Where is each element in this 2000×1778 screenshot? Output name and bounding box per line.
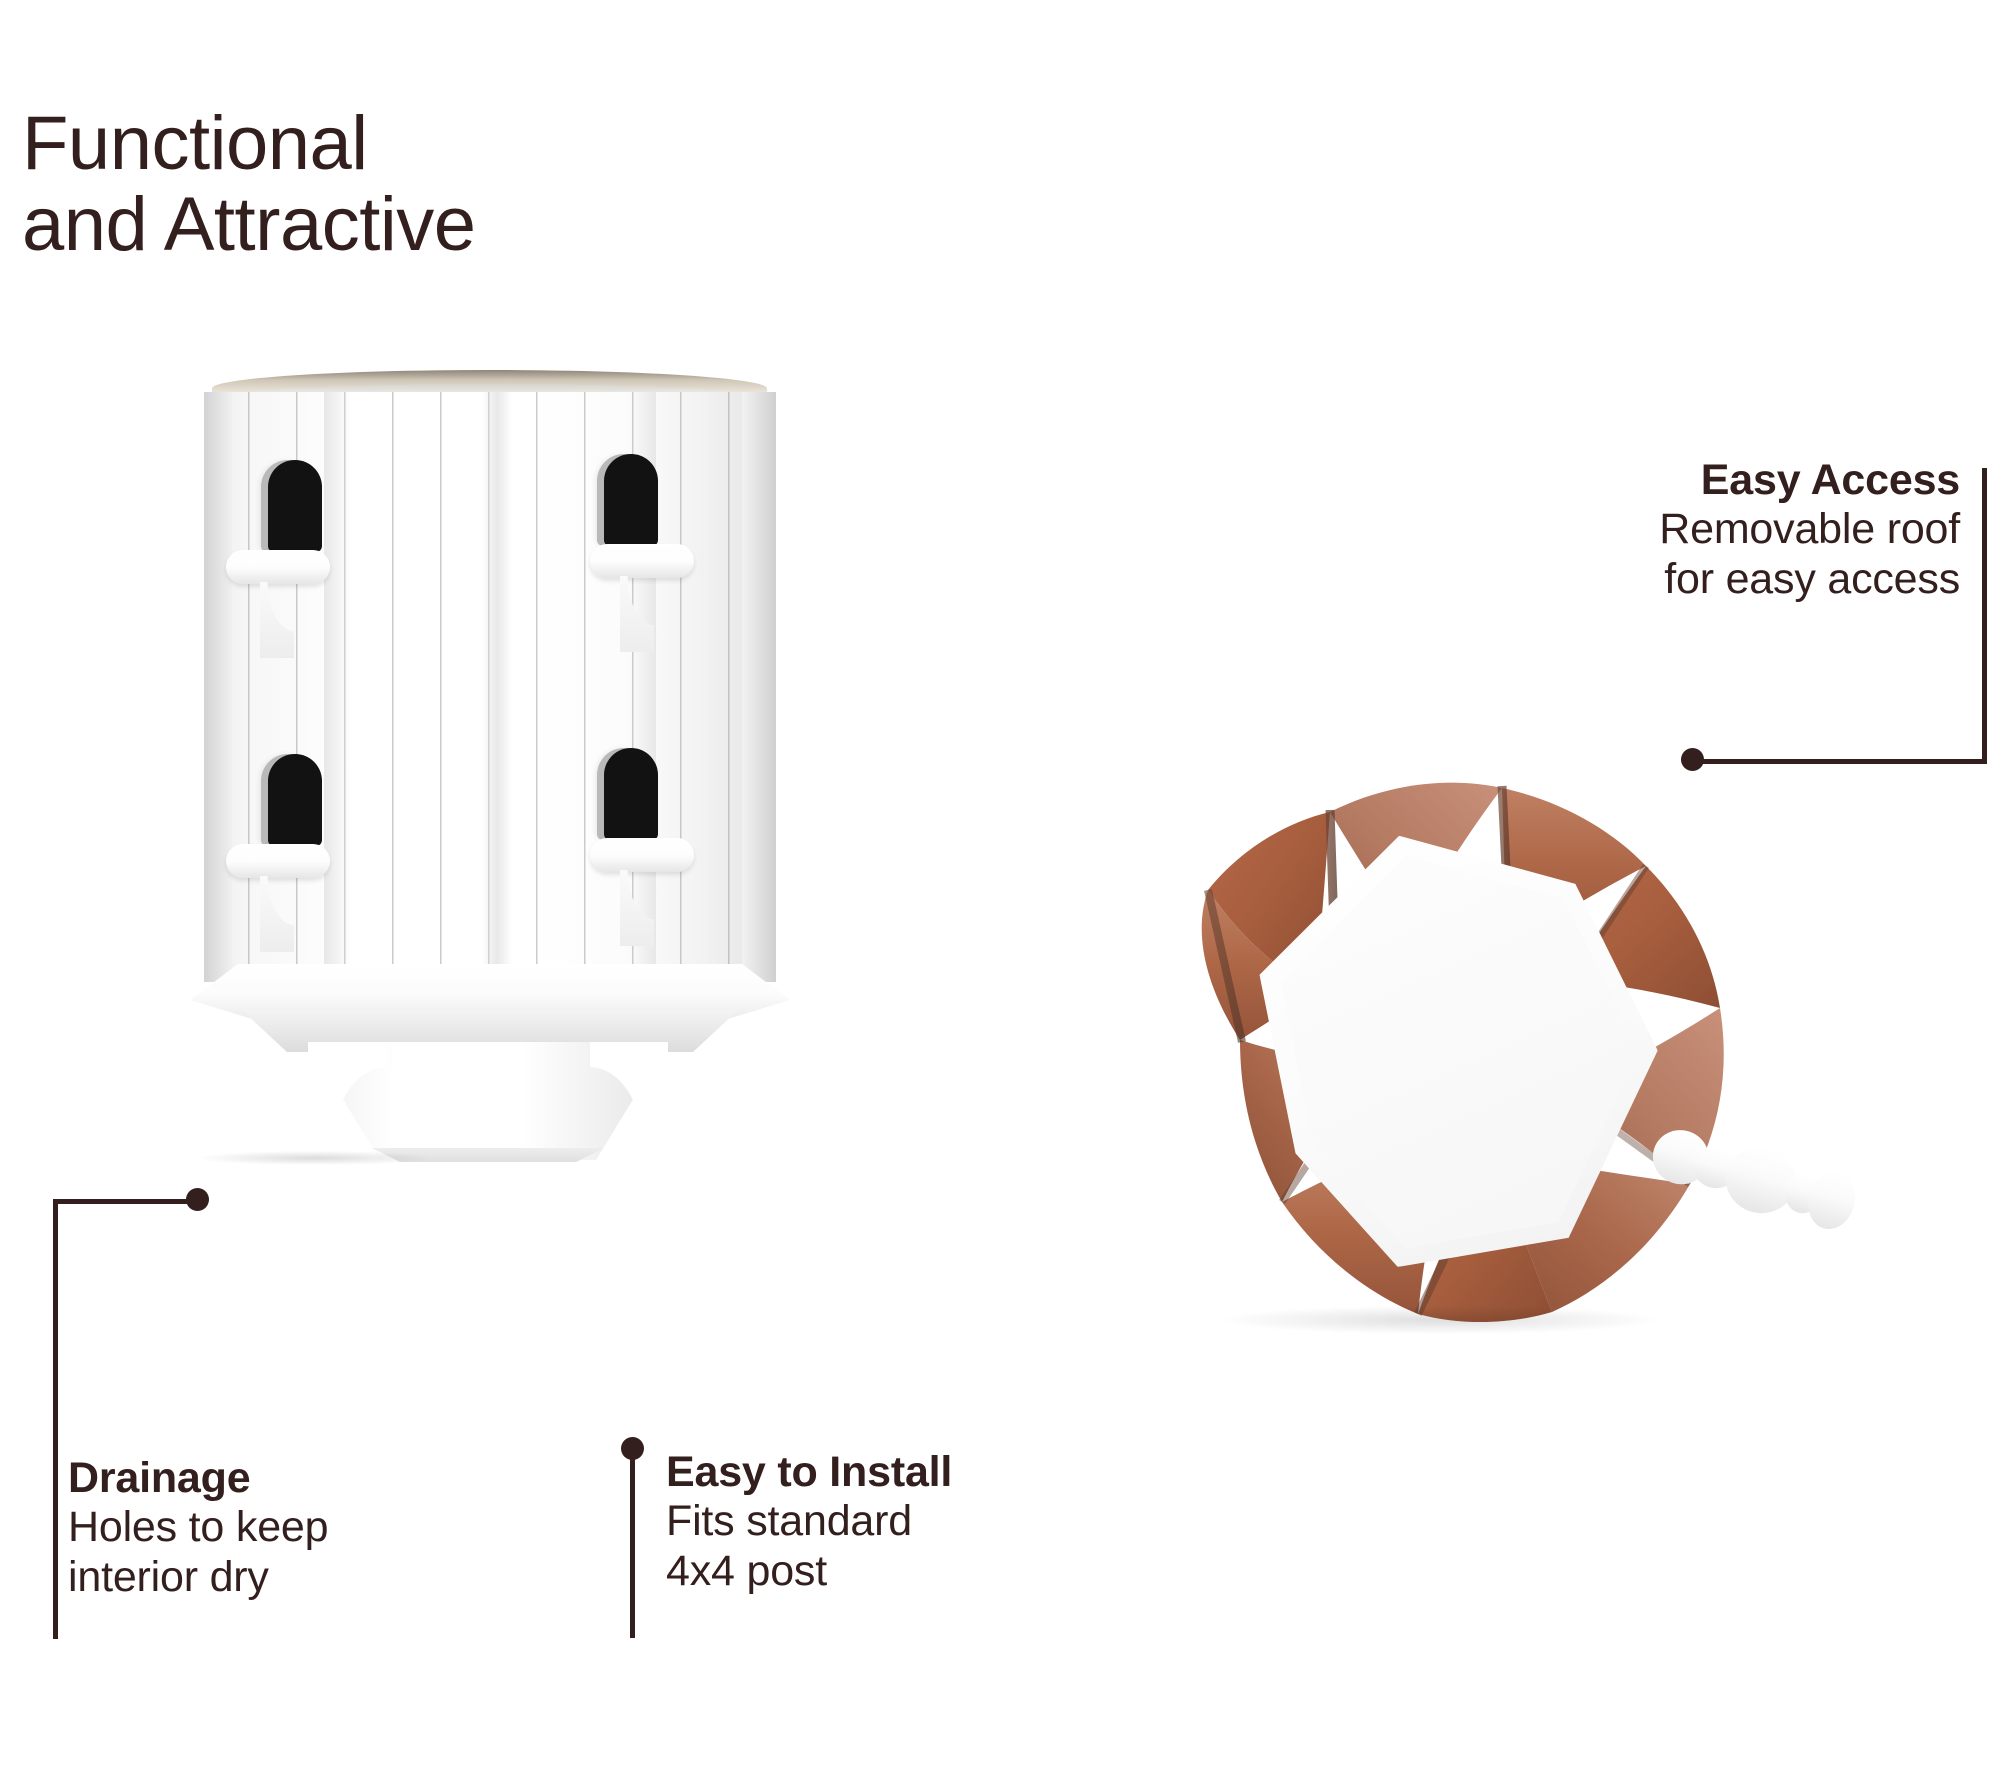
callout-easy-to-install: Easy to Install Fits standard 4x4 post [666, 1448, 1086, 1597]
perch-ledge [226, 844, 330, 878]
perch-bracket [260, 876, 294, 952]
callout-drainage-leader-vertical [53, 1199, 58, 1639]
callout-easy-to-install-leader-vertical [630, 1458, 635, 1638]
callout-drainage-leader-horizontal [53, 1199, 195, 1204]
post-mount-skirt-left-curve [308, 1042, 386, 1154]
perch-bracket [620, 576, 654, 652]
callout-easy-to-install-leader-dot [621, 1437, 644, 1460]
callout-easy-access-description: Removable roof for easy access [1480, 504, 1960, 605]
body-facet-left-inner [324, 392, 350, 982]
callout-drainage: Drainage Holes to keep interior dry [68, 1454, 468, 1603]
callout-drainage-title: Drainage [68, 1454, 468, 1502]
page-title: Functional and Attractive [22, 104, 476, 265]
callout-easy-to-install-title: Easy to Install [666, 1448, 1086, 1496]
perch-ledge [590, 544, 694, 578]
perch-ledge [226, 550, 330, 584]
post-mount-skirt-right-curve [590, 1042, 668, 1154]
callout-easy-access-leader-dot [1681, 748, 1704, 771]
copper-roof-product-image [1090, 740, 1870, 1370]
callout-easy-access-leader-horizontal [1692, 759, 1987, 764]
callout-easy-access: Easy Access Removable roof for easy acce… [1480, 456, 1982, 605]
callout-drainage-leader-dot [186, 1188, 209, 1211]
perch-bracket [620, 870, 654, 946]
callout-drainage-description: Holes to keep interior dry [68, 1502, 468, 1603]
birdhouse-product-image [190, 370, 790, 1160]
entry-hole-icon [604, 454, 658, 546]
callout-easy-access-title: Easy Access [1480, 456, 1960, 504]
callout-easy-access-leader-vertical [1982, 468, 1987, 764]
body-facet-right-outer [742, 392, 776, 982]
callout-easy-to-install-description: Fits standard 4x4 post [666, 1496, 1086, 1597]
entry-hole-icon [268, 460, 322, 552]
perch-ledge [590, 838, 694, 872]
birdhouse-drop-shadow [150, 1148, 480, 1168]
body-facet-center [482, 392, 512, 982]
body-facet-left-outer [204, 392, 232, 982]
entry-hole-icon [604, 748, 658, 840]
roof-drop-shadow [1130, 1300, 1750, 1340]
perch-bracket [260, 582, 294, 658]
entry-hole-icon [268, 754, 322, 846]
